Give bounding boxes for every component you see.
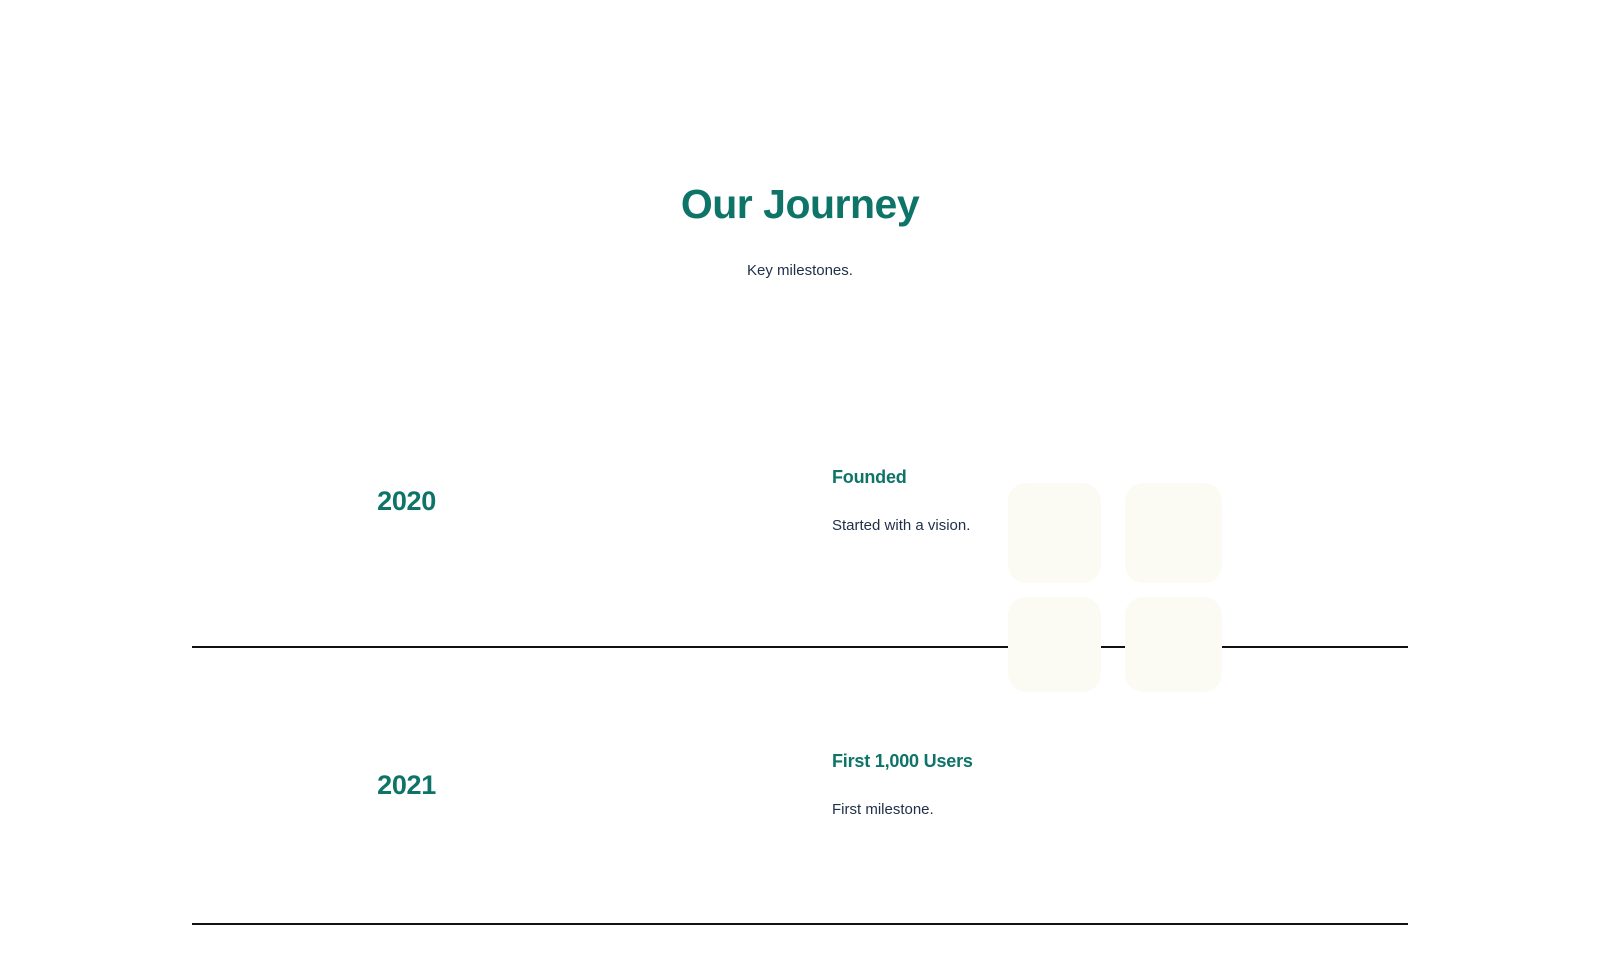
timeline-year-cell: 2021 (192, 772, 522, 799)
page-subtitle: Key milestones. (0, 229, 1600, 281)
timeline-row: 2020 Founded Started with a vision. (192, 357, 1408, 648)
timeline-list: 2020 Founded Started with a vision. 2021… (192, 357, 1408, 925)
timeline-detail-cell: First 1,000 Users First milestone. (522, 751, 1408, 820)
timeline-year-cell: 2020 (192, 488, 522, 515)
timeline-year-label: 2020 (377, 488, 436, 515)
timeline-milestone-description: First milestone. (832, 773, 1408, 820)
timeline-detail-cell: Founded Started with a vision. (522, 467, 1408, 536)
timeline-year-label: 2021 (377, 772, 436, 799)
journey-header: Our Journey Key milestones. (0, 180, 1600, 281)
timeline-milestone-description: Started with a vision. (832, 489, 1408, 536)
timeline-milestone-title: First 1,000 Users (832, 751, 1408, 773)
page-title: Our Journey (0, 180, 1600, 229)
timeline-row: 2021 First 1,000 Users First milestone. (192, 648, 1408, 925)
timeline-milestone-title: Founded (832, 467, 1408, 489)
journey-page: Our Journey Key milestones. 2020 Founded… (0, 0, 1600, 978)
